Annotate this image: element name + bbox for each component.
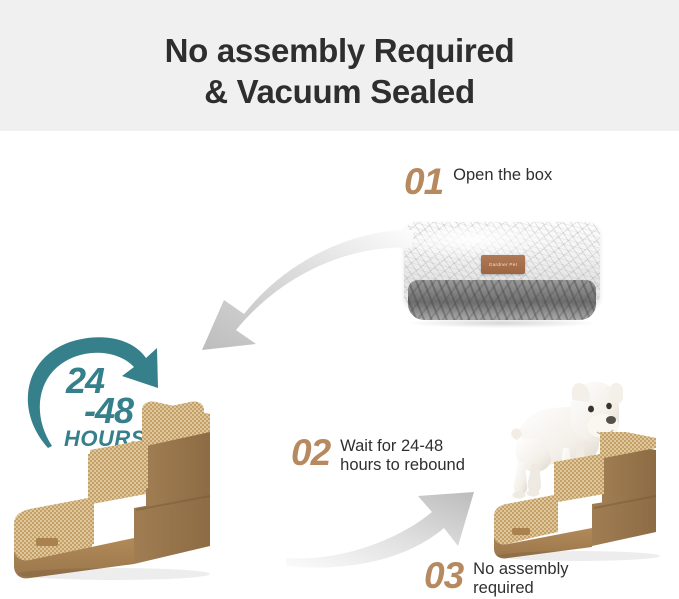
step-02-line-2: hours to rebound xyxy=(340,456,465,475)
page-title-line-2: & Vacuum Sealed xyxy=(0,71,679,112)
package-shadow xyxy=(408,318,596,328)
arrow-stairs-to-dog-icon xyxy=(286,476,498,568)
vacuum-sealed-package: Gardner Pet xyxy=(398,218,606,330)
step-03-line-2: required xyxy=(473,579,568,598)
step-02: 02 Wait for 24-48 hours to rebound xyxy=(291,434,465,475)
step-02-label: Wait for 24-48 hours to rebound xyxy=(330,434,465,475)
package-brand-label: Gardner Pet xyxy=(481,255,525,274)
arrow-box-to-stairs-icon xyxy=(178,222,414,352)
step-02-line-1: Wait for 24-48 xyxy=(340,437,465,456)
step-03-label: No assembly required xyxy=(463,557,568,598)
page-title: No assembly Required & Vacuum Sealed xyxy=(0,30,679,112)
step-02-number: 02 xyxy=(291,434,330,471)
page-title-line-1: No assembly Required xyxy=(0,30,679,71)
step-03-number: 03 xyxy=(424,557,463,594)
step-01-number: 01 xyxy=(404,163,443,200)
pet-stairs-right xyxy=(494,432,674,562)
package-front-face xyxy=(408,280,596,320)
step-03-line-1: No assembly xyxy=(473,560,568,579)
pet-stairs-left xyxy=(14,398,232,580)
step-03: 03 No assembly required xyxy=(424,557,569,598)
step-01: 01 Open the box xyxy=(404,163,552,200)
infographic-canvas: No assembly Required & Vacuum Sealed 01 … xyxy=(0,0,679,599)
step-01-line-1: Open the box xyxy=(453,166,552,185)
step-01-label: Open the box xyxy=(443,163,552,185)
